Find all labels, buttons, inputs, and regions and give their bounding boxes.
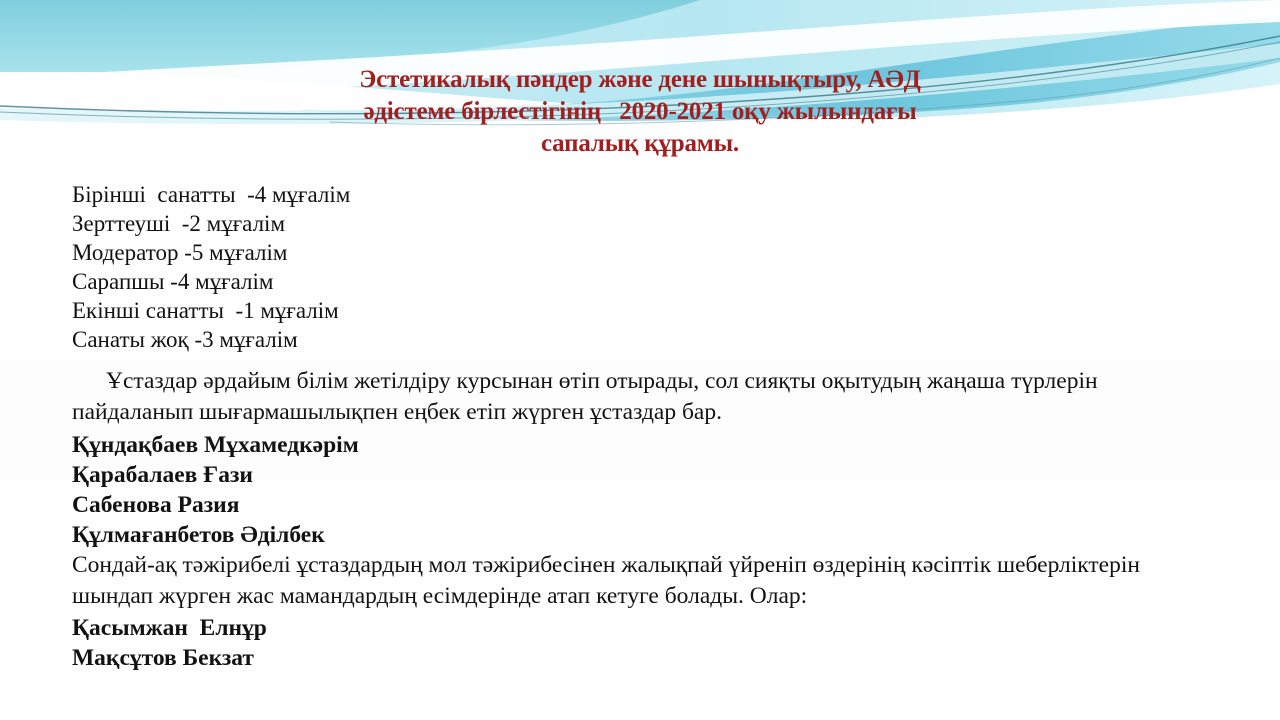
slide-body: Бірінші санатты -4 мұғалім Зерттеуші -2 …	[72, 180, 1192, 673]
list-item: Қарабалаев Ғази	[72, 460, 1192, 490]
page-title: Эстетикалық пәндер және дене шынықтыру, …	[0, 64, 1280, 160]
list-item: Қасымжан Елнұр	[72, 613, 1192, 643]
slide-canvas: Эстетикалық пәндер және дене шынықтыру, …	[0, 0, 1280, 720]
experienced-teacher-names-list: Құндақбаев Мұхамедкәрім Қарабалаев Ғази …	[72, 430, 1192, 550]
list-item: Бірінші санатты -4 мұғалім	[72, 180, 1192, 209]
paragraph-young-specialists: Сондай-ақ тәжірибелі ұстаздардың мол тәж…	[72, 550, 1192, 612]
list-item: Екінші санатты -1 мұғалім	[72, 296, 1192, 325]
list-item: Зерттеуші -2 мұғалім	[72, 209, 1192, 238]
list-item: Сарапшы -4 мұғалім	[72, 267, 1192, 296]
title-line-2: әдістеме бірлестігінің 2020-2021 оқу жыл…	[0, 96, 1280, 128]
paragraph-professional-development: Ұстаздар әрдайым білім жетілдіру курсына…	[72, 366, 1192, 428]
list-item: Мақсұтов Бекзат	[72, 643, 1192, 673]
young-specialist-names-list: Қасымжан Елнұр Мақсұтов Бекзат	[72, 613, 1192, 673]
list-item: Құлмағанбетов Әділбек	[72, 520, 1192, 550]
category-stats-list: Бірінші санатты -4 мұғалім Зерттеуші -2 …	[72, 180, 1192, 354]
list-item: Құндақбаев Мұхамедкәрім	[72, 430, 1192, 460]
title-line-1: Эстетикалық пәндер және дене шынықтыру, …	[0, 64, 1280, 96]
title-line-3: сапалық құрамы.	[0, 128, 1280, 160]
banner-turquoise-shape	[0, 0, 700, 72]
list-item: Сабенова Разия	[72, 490, 1192, 520]
list-item: Модератор -5 мұғалім	[72, 238, 1192, 267]
list-item: Санаты жоқ -3 мұғалім	[72, 325, 1192, 354]
